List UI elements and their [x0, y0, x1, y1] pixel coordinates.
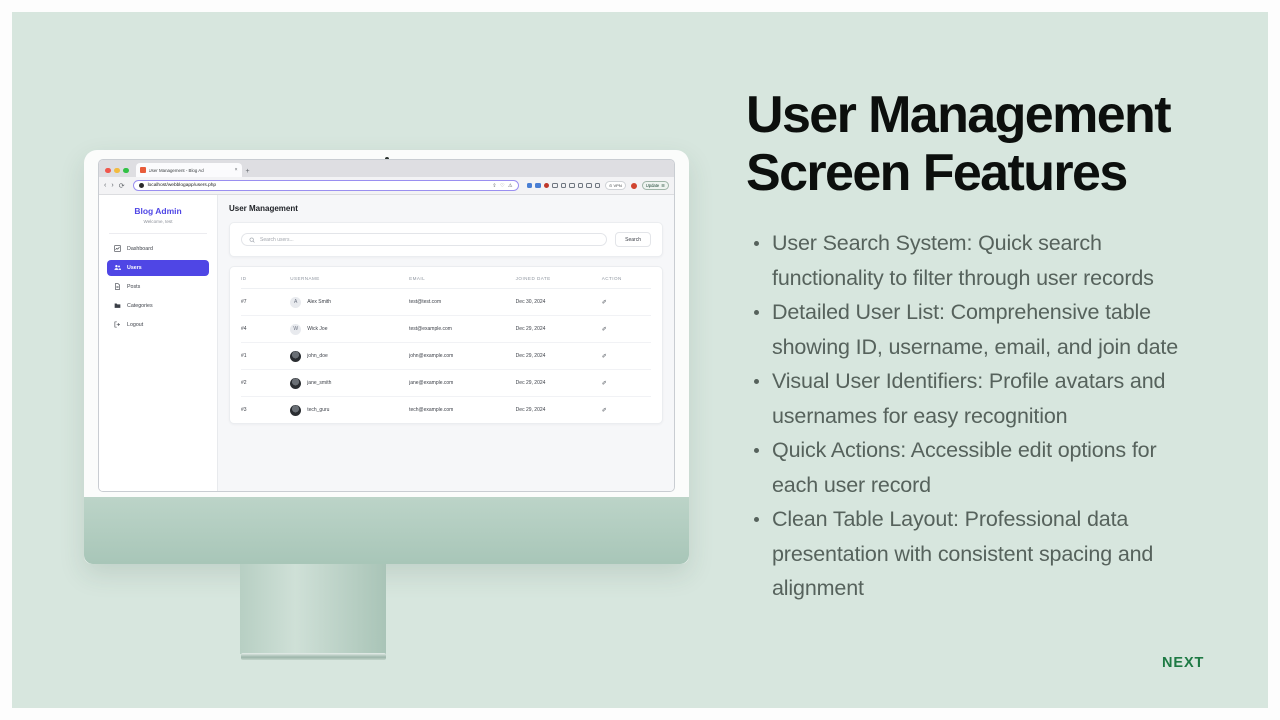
username-text: tech_guru	[307, 407, 329, 413]
list-item: User Search System: Quick search functio…	[746, 226, 1206, 295]
profile-avatar-icon[interactable]	[631, 183, 637, 189]
list-item: Visual User Identifiers: Profile avatars…	[746, 364, 1206, 433]
search-input[interactable]: Search users...	[241, 233, 607, 246]
monitor-mockup: User Management - Blog Ad × + ‹ › ⟳ loca…	[84, 150, 689, 564]
slide-title: User Management Screen Features	[746, 86, 1206, 202]
cell-username: john_doe	[290, 343, 409, 370]
cell-id: #1	[241, 343, 290, 370]
avatar: A	[290, 297, 301, 308]
page-title: User Management	[229, 204, 663, 213]
cell-email: test@example.com	[409, 316, 516, 343]
app-content: User Management Search users... Search	[218, 195, 674, 491]
col-header-joined: JOINED DATE	[516, 267, 602, 289]
address-bar[interactable]: localhost/webblogapp/users.php ⇧ ♡ ⚠	[133, 180, 519, 192]
reload-icon[interactable]: ⟳	[119, 182, 125, 190]
share-icon[interactable]: ⇧	[492, 183, 496, 189]
cell-username: tech_guru	[290, 397, 409, 424]
cell-joined: Dec 29, 2024	[516, 316, 602, 343]
cell-action: ✐	[602, 397, 651, 424]
extension-icon-7[interactable]	[578, 183, 584, 189]
monitor-stand-neck	[240, 564, 386, 654]
close-window-button[interactable]	[105, 168, 111, 174]
feature-bullet-list: User Search System: Quick search functio…	[746, 226, 1206, 606]
edit-icon[interactable]: ✐	[602, 408, 607, 414]
monitor-stand-base	[241, 653, 386, 660]
favicon-icon	[140, 167, 146, 173]
edit-icon[interactable]: ✐	[602, 354, 607, 360]
users-table-card: ID USERNAME EMAIL JOINED DATE ACTION #7A…	[229, 266, 663, 424]
list-item: Quick Actions: Accessible edit options f…	[746, 433, 1206, 502]
sidebar-item-label: Users	[127, 265, 142, 271]
table-body: #7AAlex Smithtest@test.comDec 30, 2024✐#…	[241, 289, 651, 424]
slide-title-line2: Screen Features	[746, 144, 1127, 202]
sidebar-item-label: Logout	[127, 322, 143, 328]
extensions-row	[527, 183, 601, 189]
forward-icon[interactable]: ›	[111, 182, 113, 189]
maximize-window-button[interactable]	[123, 168, 129, 174]
cell-action: ✐	[602, 370, 651, 397]
menu-icon[interactable]: ☰	[661, 183, 665, 188]
table-row: #2jane_smithjane@example.comDec 29, 2024…	[241, 370, 651, 397]
table-row: #4WWick Joetest@example.comDec 29, 2024✐	[241, 316, 651, 343]
extension-icon-8[interactable]	[586, 183, 592, 189]
close-tab-icon[interactable]: ×	[235, 167, 238, 173]
browser-tab[interactable]: User Management - Blog Ad ×	[136, 163, 242, 177]
username-text: jane_smith	[307, 380, 331, 386]
col-header-username: USERNAME	[290, 267, 409, 289]
back-icon[interactable]: ‹	[104, 182, 106, 189]
list-item: Clean Table Layout: Professional data pr…	[746, 502, 1206, 606]
users-table: ID USERNAME EMAIL JOINED DATE ACTION #7A…	[241, 267, 651, 423]
col-header-id: ID	[241, 267, 290, 289]
extension-icon-5[interactable]	[561, 183, 567, 189]
avatar: W	[290, 324, 301, 335]
cell-email: john@example.com	[409, 343, 516, 370]
list-item: Detailed User List: Comprehensive table …	[746, 295, 1206, 364]
sidebar-item-logout[interactable]: Logout	[107, 317, 209, 333]
browser-window: User Management - Blog Ad × + ‹ › ⟳ loca…	[98, 159, 675, 492]
monitor-chin	[84, 497, 689, 564]
extension-icon-6[interactable]	[569, 183, 575, 189]
search-card: Search users... Search	[229, 222, 663, 257]
sidebar-divider	[109, 233, 207, 234]
cell-joined: Dec 30, 2024	[516, 289, 602, 316]
cell-username: AAlex Smith	[290, 289, 409, 316]
cell-joined: Dec 29, 2024	[516, 370, 602, 397]
logout-icon	[114, 321, 121, 328]
cell-action: ✐	[602, 343, 651, 370]
cell-id: #4	[241, 316, 290, 343]
username-text: Wick Joe	[307, 326, 327, 332]
next-button[interactable]: NEXT	[1162, 655, 1204, 671]
table-header-row: ID USERNAME EMAIL JOINED DATE ACTION	[241, 267, 651, 289]
slide-canvas: User Management - Blog Ad × + ‹ › ⟳ loca…	[12, 12, 1268, 708]
extension-icon-4[interactable]	[552, 183, 558, 189]
extension-icon-1[interactable]	[527, 183, 533, 189]
new-tab-icon[interactable]: +	[246, 168, 250, 177]
extension-icon-3[interactable]	[544, 183, 550, 189]
avatar	[290, 351, 301, 362]
slide-title-line1: User Management	[746, 86, 1170, 144]
cell-email: jane@example.com	[409, 370, 516, 397]
admin-app: Blog Admin Welcome, test Dashboard	[99, 195, 674, 491]
col-header-email: EMAIL	[409, 267, 516, 289]
sidebar-item-label: Categories	[127, 303, 153, 309]
table-head: ID USERNAME EMAIL JOINED DATE ACTION	[241, 267, 651, 289]
edit-icon[interactable]: ✐	[602, 381, 607, 387]
table-row: #1john_doejohn@example.comDec 29, 2024✐	[241, 343, 651, 370]
table-row: #3tech_gurutech@example.comDec 29, 2024✐	[241, 397, 651, 424]
minimize-window-button[interactable]	[114, 168, 120, 174]
site-info-icon[interactable]	[139, 183, 144, 188]
update-button-label: Update	[646, 183, 660, 188]
cell-username: jane_smith	[290, 370, 409, 397]
users-icon	[114, 264, 121, 271]
cell-joined: Dec 29, 2024	[516, 343, 602, 370]
cell-id: #3	[241, 397, 290, 424]
vpn-indicator[interactable]: ⊙ VPN	[605, 181, 626, 190]
search-placeholder: Search users...	[260, 237, 294, 243]
cell-id: #2	[241, 370, 290, 397]
bookmark-star-icon[interactable]: ♡	[500, 183, 504, 189]
search-icon	[249, 237, 255, 243]
table-row: #7AAlex Smithtest@test.comDec 30, 2024✐	[241, 289, 651, 316]
cell-joined: Dec 29, 2024	[516, 397, 602, 424]
cell-username: WWick Joe	[290, 316, 409, 343]
chart-icon	[114, 245, 121, 252]
monitor-bezel: User Management - Blog Ad × + ‹ › ⟳ loca…	[84, 150, 689, 564]
search-button[interactable]: Search	[615, 232, 651, 247]
cell-email: test@test.com	[409, 289, 516, 316]
extension-icon-2[interactable]	[535, 183, 541, 189]
username-text: john_doe	[307, 353, 328, 359]
sidebar-item-posts[interactable]: Posts	[107, 279, 209, 295]
browser-tabstrip: User Management - Blog Ad × +	[99, 160, 674, 177]
warning-icon[interactable]: ⚠	[508, 183, 512, 189]
cell-email: tech@example.com	[409, 397, 516, 424]
folder-icon	[114, 302, 121, 309]
col-header-action: ACTION	[602, 267, 651, 289]
url-text: localhost/webblogapp/users.php	[148, 183, 489, 188]
edit-icon[interactable]: ✐	[602, 327, 607, 333]
sidebar-item-label: Dashboard	[127, 246, 153, 252]
avatar	[290, 378, 301, 389]
slide-text-column: User Management Screen Features User Sea…	[746, 86, 1206, 606]
edit-icon[interactable]: ✐	[602, 300, 607, 306]
cell-action: ✐	[602, 289, 651, 316]
brand-title: Blog Admin	[107, 206, 209, 216]
document-icon	[114, 283, 121, 290]
sidebar-item-dashboard[interactable]: Dashboard	[107, 241, 209, 257]
sidebar-item-users[interactable]: Users	[107, 260, 209, 276]
window-controls[interactable]	[105, 168, 129, 178]
avatar	[290, 405, 301, 416]
sidebar-item-label: Posts	[127, 284, 140, 290]
welcome-text: Welcome, test	[107, 219, 209, 224]
browser-toolbar: ‹ › ⟳ localhost/webblogapp/users.php ⇧ ♡…	[99, 177, 674, 195]
username-text: Alex Smith	[307, 299, 331, 305]
update-button[interactable]: Update ☰	[642, 181, 669, 190]
tab-title: User Management - Blog Ad	[149, 168, 232, 173]
sidebar-item-categories[interactable]: Categories	[107, 298, 209, 314]
cell-action: ✐	[602, 316, 651, 343]
cell-id: #7	[241, 289, 290, 316]
app-sidebar: Blog Admin Welcome, test Dashboard	[99, 195, 218, 491]
omnibox-actions: ⇧ ♡ ⚠	[492, 183, 512, 189]
extension-icon-9[interactable]	[595, 183, 601, 189]
